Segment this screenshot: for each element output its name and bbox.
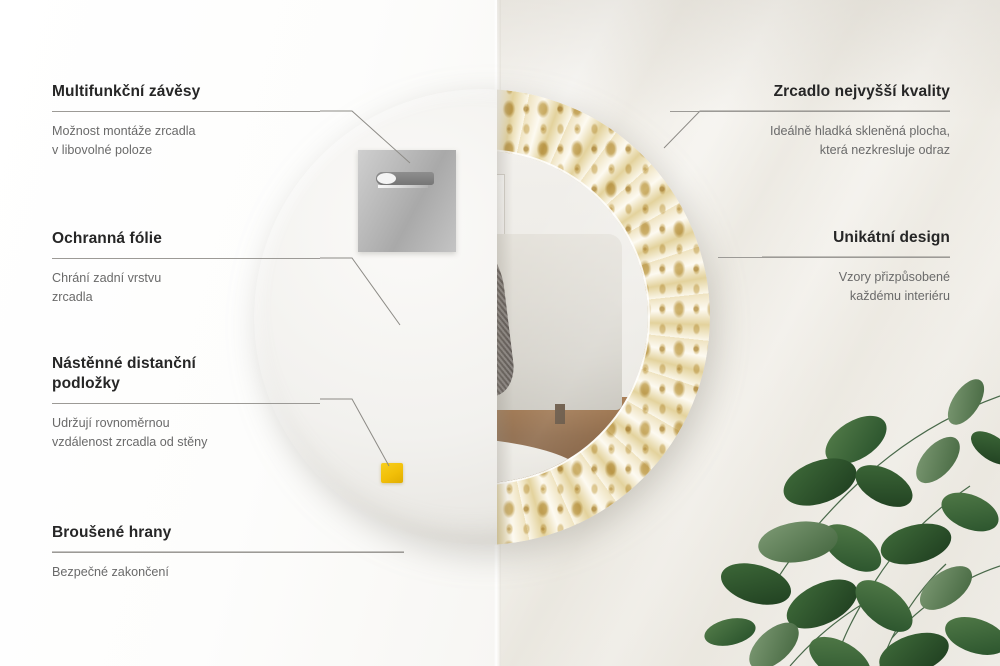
callout-rule bbox=[52, 111, 320, 112]
callout-quality-body: Ideálně hladká skleněná plocha, která ne… bbox=[670, 122, 950, 159]
leader-foil bbox=[320, 258, 400, 325]
callout-hangers: Multifunkční závěsy Možnost montáže zrca… bbox=[52, 82, 320, 159]
callout-pads-body: Udržují rovnoměrnou vzdálenost zrcadla o… bbox=[52, 414, 320, 451]
callout-rule bbox=[52, 403, 320, 404]
callout-edges-title: Broušené hrany bbox=[52, 523, 404, 543]
callout-design: Unikátní design Vzory přizpůsobené každé… bbox=[718, 228, 950, 305]
callout-quality: Zrcadlo nejvyšší kvality Ideálně hladká … bbox=[670, 82, 950, 159]
callout-pads-title: Nástěnné distanční podložky bbox=[52, 354, 320, 394]
callout-rule bbox=[718, 257, 950, 258]
foliage-decoration bbox=[670, 336, 1000, 666]
foliage-leaves bbox=[702, 373, 1000, 666]
callout-foil-title: Ochranná fólie bbox=[52, 229, 320, 249]
callout-rule bbox=[52, 258, 320, 259]
leader-pads bbox=[320, 399, 389, 466]
callout-edges-body: Bezpečné zakončení bbox=[52, 563, 404, 582]
callout-edges: Broušené hrany Bezpečné zakončení bbox=[52, 523, 404, 582]
infographic-canvas: Multifunkční závěsy Možnost montáže zrca… bbox=[0, 0, 1000, 666]
callout-foil-body: Chrání zadní vrstvu zrcadla bbox=[52, 269, 320, 306]
leader-hangers bbox=[320, 111, 410, 163]
callout-rule bbox=[670, 111, 950, 112]
callout-hangers-body: Možnost montáže zrcadla v libovolné polo… bbox=[52, 122, 320, 159]
callout-rule bbox=[52, 552, 404, 553]
callout-quality-title: Zrcadlo nejvyšší kvality bbox=[670, 82, 950, 102]
callout-design-body: Vzory přizpůsobené každému interiéru bbox=[718, 268, 950, 305]
callout-pads: Nástěnné distanční podložky Udržují rovn… bbox=[52, 354, 320, 452]
callout-foil: Ochranná fólie Chrání zadní vrstvu zrcad… bbox=[52, 229, 320, 306]
callout-hangers-title: Multifunkční závěsy bbox=[52, 82, 320, 102]
callout-design-title: Unikátní design bbox=[718, 228, 950, 248]
